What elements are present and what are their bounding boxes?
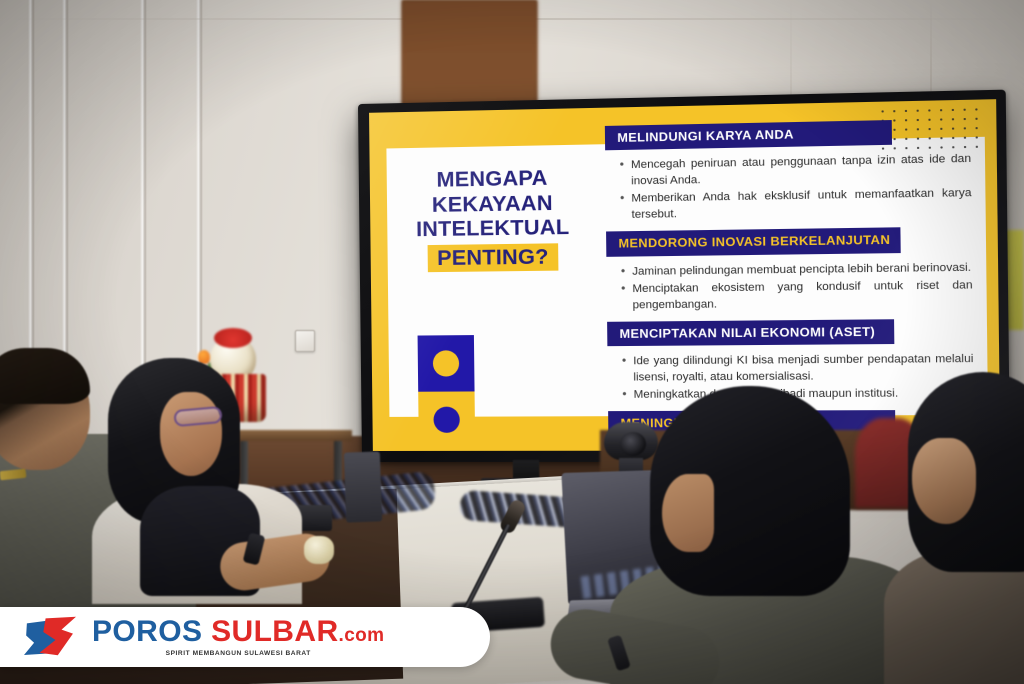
slide-section: MELINDUNGI KARYA ANDA Mencegah peniruan …: [605, 118, 976, 224]
slide-square-decoration: [418, 335, 476, 448]
title-highlight: PENTING?: [428, 243, 558, 272]
section-bullet: Mencegah peniruan atau penggunaan tanpa …: [620, 151, 972, 190]
section-heading: MENDORONG INOVASI BERKELANJUTAN: [606, 228, 901, 257]
background-laptop: [344, 451, 382, 522]
section-bullet: Menciptakan ekosistem yang kondusif untu…: [621, 277, 973, 314]
photo-scene: MENGAPA KEKAYAAN INTELEKTUAL PENTING?: [0, 0, 1024, 684]
watermark-tagline: SPIRIT MEMBANGUN SULAWESI BARAT: [92, 651, 384, 658]
person-face: [160, 392, 222, 476]
title-line-1: MENGAPA: [402, 165, 583, 193]
section-bullet: Memberikan Anda hak eksklusif untuk mema…: [620, 185, 972, 223]
person-woman-left: [98, 358, 318, 588]
light-switch[interactable]: [295, 330, 315, 352]
section-body: Mencegah peniruan atau penggunaan tanpa …: [605, 143, 976, 223]
slide-title: MENGAPA KEKAYAAN INTELEKTUAL PENTING?: [402, 165, 584, 273]
title-line-2: KEKAYAAN: [402, 190, 583, 218]
watermark-banner: POROS SULBAR.com SPIRIT MEMBANGUN SULAWE…: [0, 607, 490, 667]
blue-circle-icon: [433, 407, 459, 433]
poros-sulbar-logo-icon: [22, 615, 80, 659]
blue-square-decoration: [418, 335, 475, 392]
person-woman-far-right: [890, 372, 1024, 684]
section-body: Jaminan pelindungan membuat pencipta leb…: [606, 252, 977, 314]
watermark-brand-first: POROS: [92, 615, 202, 648]
title-line-3: INTELEKTUAL: [402, 215, 583, 242]
person-hair: [0, 348, 90, 404]
slide-left-column: MENGAPA KEKAYAAN INTELEKTUAL PENTING?: [387, 124, 598, 437]
yellow-square-decoration: [418, 391, 475, 447]
ornament-ribbon: [214, 328, 252, 348]
person-face: [912, 438, 976, 524]
watermark-text: POROS SULBAR.com SPIRIT MEMBANGUN SULAWE…: [92, 617, 384, 658]
slide-section: MENDORONG INOVASI BERKELANJUTAN Jaminan …: [606, 227, 977, 315]
held-object: [304, 536, 334, 564]
section-heading: MENCIPTAKAN NILAI EKONOMI (ASET): [607, 319, 894, 346]
watermark-brand-second: SULBAR: [211, 615, 338, 648]
yellow-circle-icon: [433, 350, 459, 376]
watermark-brand: POROS SULBAR.com: [92, 617, 384, 647]
person-woman-center-right: [620, 386, 920, 684]
person-face: [662, 474, 714, 552]
watermark-brand-tld: .com: [339, 625, 385, 646]
